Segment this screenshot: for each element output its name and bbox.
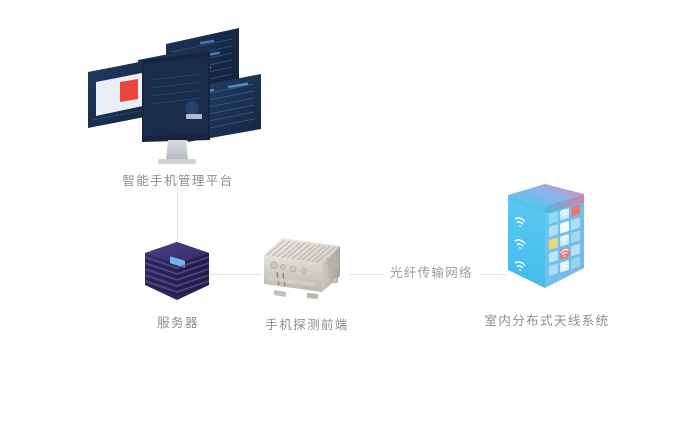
monitor-screen-center bbox=[142, 52, 210, 164]
link-label-fiber-network: 光纤传输网络 bbox=[383, 262, 480, 281]
multi-monitor-dashboard-icon bbox=[82, 22, 272, 172]
node-management-platform[interactable]: 智能手机管理平台 bbox=[82, 22, 272, 172]
isometric-building-icon bbox=[500, 184, 590, 306]
rf-detection-unit-icon bbox=[252, 234, 358, 304]
window-grid bbox=[549, 205, 580, 276]
diagram-canvas: 智能手机管理平台 bbox=[0, 0, 692, 422]
node-label-detection-frontend: 手机探测前端 bbox=[227, 314, 387, 333]
node-label-management-platform: 智能手机管理平台 bbox=[78, 170, 278, 189]
node-server[interactable]: 服务器 bbox=[143, 240, 213, 302]
server-stack-icon bbox=[143, 240, 213, 302]
node-indoor-antenna-system[interactable]: 室内分布式天线系统 bbox=[500, 184, 590, 306]
node-detection-frontend[interactable]: 手机探测前端 bbox=[252, 234, 358, 304]
node-label-indoor-antenna-system: 室内分布式天线系统 bbox=[467, 310, 627, 329]
